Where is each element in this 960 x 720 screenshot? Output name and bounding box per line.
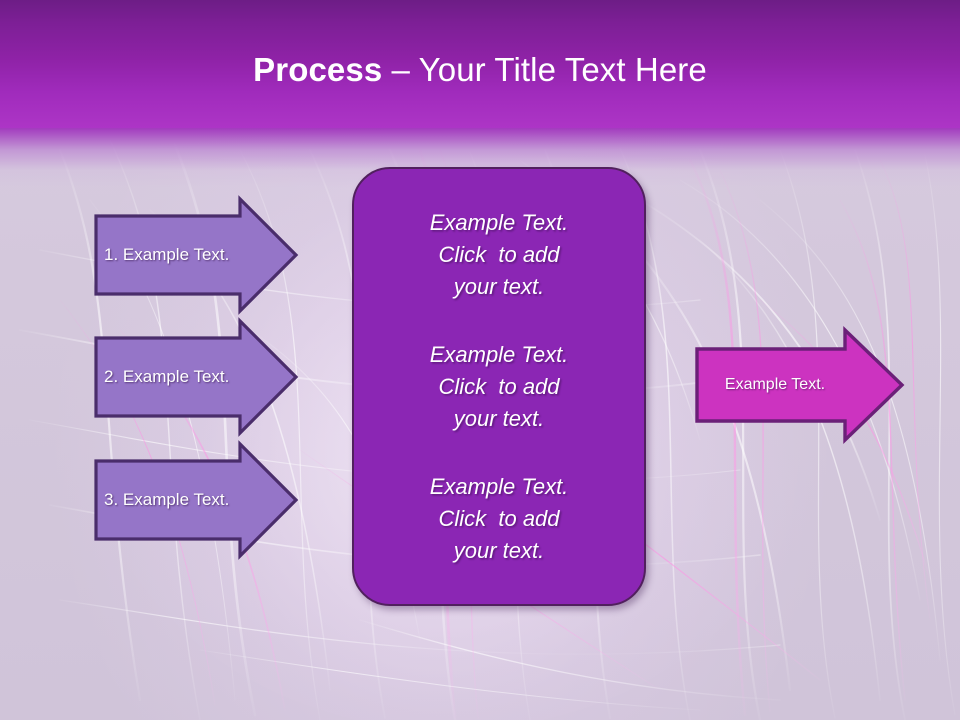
center-text-block-1: Example Text.Click to addyour text. (354, 207, 644, 303)
center-text-block-2: Example Text.Click to addyour text. (354, 339, 644, 435)
center-text-block-2-line2: Click to add (438, 374, 559, 399)
page-title-bold: Process (253, 51, 382, 88)
process-arrow-1[interactable]: 1. Example Text. (94, 197, 298, 313)
center-text-block-3: Example Text.Click to addyour text. (354, 471, 644, 567)
result-arrow-label: Example Text. (695, 328, 855, 442)
center-text-block-1-line1: Example Text. (430, 210, 569, 235)
center-text-block-3-line1: Example Text. (430, 474, 569, 499)
process-arrow-2-label: 2. Example Text. (104, 319, 274, 435)
center-text-block-3-line3: your text. (454, 538, 544, 563)
process-arrow-3-label: 3. Example Text. (104, 442, 274, 558)
page-title-rest: – Your Title Text Here (382, 51, 707, 88)
center-text-block-3-line2: Click to add (438, 506, 559, 531)
process-arrow-3[interactable]: 3. Example Text. (94, 442, 298, 558)
process-arrow-2[interactable]: 2. Example Text. (94, 319, 298, 435)
page-title: Process – Your Title Text Here (0, 50, 960, 90)
center-text-block-1-line2: Click to add (438, 242, 559, 267)
result-arrow[interactable]: Example Text. (695, 328, 905, 442)
center-text-block-2-line1: Example Text. (430, 342, 569, 367)
center-text-block-2-line3: your text. (454, 406, 544, 431)
process-arrow-1-label: 1. Example Text. (104, 197, 274, 313)
center-text-block-1-line3: your text. (454, 274, 544, 299)
slide-canvas: Process – Your Title Text Here 1. Exampl… (0, 0, 960, 720)
center-content-box[interactable]: Example Text.Click to addyour text. Exam… (352, 167, 646, 606)
